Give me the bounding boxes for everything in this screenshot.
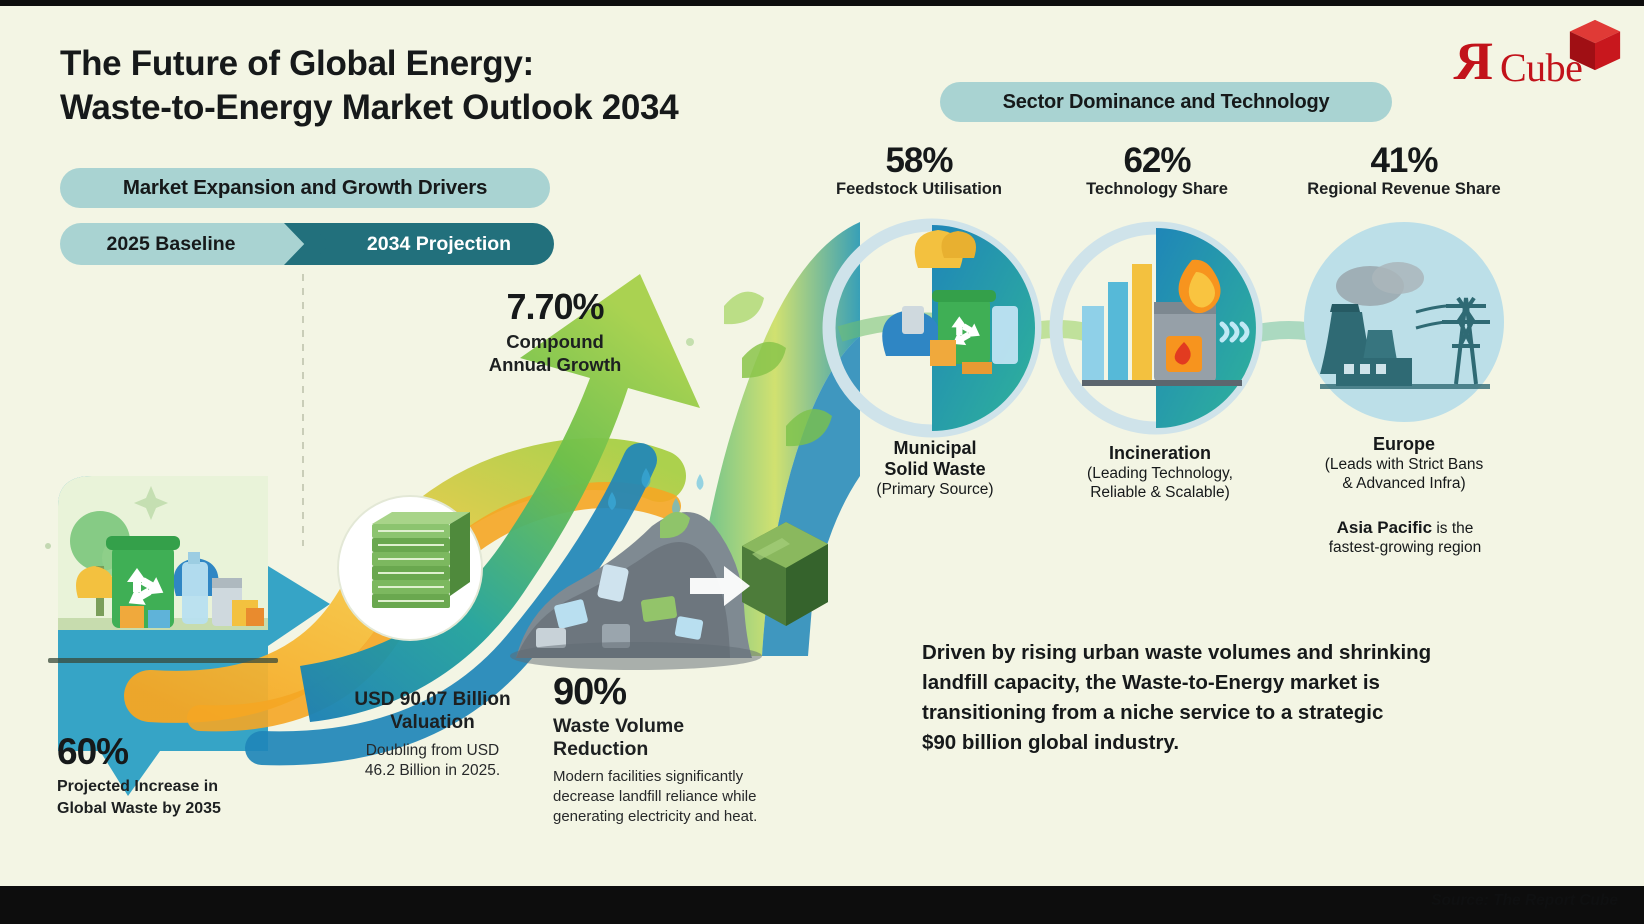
kpi-technology-value: 62% [1045,141,1269,181]
stat-cagr-value: 7.70% [440,286,670,328]
bottom-letterbox-bar [0,886,1644,924]
stat-valuation-body: Doubling from USD 46.2 Billion in 2025. [325,741,540,782]
section-pill-sector-dominance: Sector Dominance and Technology [940,82,1392,122]
kpi-feedstock-utilisation: 58% Feedstock Utilisation [805,141,1033,199]
logo-r-mark: R [1454,34,1493,88]
kpi-technology-label: Technology Share [1045,180,1269,199]
stat-valuation-body-line1: Doubling from USD [325,741,540,761]
title-line-2: Waste-to-Energy Market Outlook 2034 [60,86,880,130]
summary-line4: $90 billion global industry. [922,728,1522,758]
kpi-feedstock-label: Feedstock Utilisation [805,180,1033,199]
caption-europe: Europe (Leads with Strict Bans & Advance… [1295,434,1513,494]
caption-incineration-sub-line1: (Leading Technology, [1062,465,1258,484]
stat-volume-reduction-body-line3: generating electricity and heat. [553,807,815,827]
infographic-canvas: The Future of Global Energy: Waste-to-En… [0,0,1644,924]
stat-waste-increase-value: 60% [57,731,317,773]
stat-cagr-label: Compound Annual Growth [440,330,670,376]
timeline-projection[interactable]: 2034 Projection [306,223,554,265]
source-credit: Source: The Report Cube [1431,892,1618,910]
caption-incineration-title: Incineration [1062,443,1258,464]
stat-cagr-label-line1: Compound [440,330,670,353]
kpi-feedstock-value: 58% [805,141,1033,181]
asia-pacific-bold: Asia Pacific [1337,518,1432,537]
kpi-regional-revenue-share: 41% Regional Revenue Share [1285,141,1523,199]
infographic-sheet: The Future of Global Energy: Waste-to-En… [0,6,1644,886]
asia-pacific-rest: is the [1432,520,1473,537]
stat-valuation-headline: USD 90.07 Billion Valuation [325,689,540,735]
money-stack-illustration [338,496,482,640]
stat-cagr-label-line2: Annual Growth [440,353,670,376]
caption-incineration: Incineration (Leading Technology, Reliab… [1062,443,1258,503]
asia-pacific-line2: fastest-growing region [1295,538,1515,557]
asia-pacific-line1: Asia Pacific is the [1295,517,1515,538]
kpi-regional-label: Regional Revenue Share [1285,180,1523,199]
stat-valuation-body-line2: 46.2 Billion in 2025. [325,761,540,781]
caption-europe-sub-line2: & Advanced Infra) [1295,475,1513,494]
stat-volume-reduction-line2: Reduction [553,738,815,761]
stat-waste-increase: 60% Projected Increase in Global Waste b… [57,731,317,819]
summary-paragraph: Driven by rising urban waste volumes and… [922,638,1522,759]
kpi-regional-value: 41% [1285,141,1523,181]
summary-line1: Driven by rising urban waste volumes and… [922,638,1522,668]
caption-europe-sub-line1: (Leads with Strict Bans [1295,456,1513,475]
stat-volume-reduction: 90% Waste Volume Reduction Modern facili… [553,671,815,828]
page-title: The Future of Global Energy: Waste-to-En… [60,42,880,131]
stat-waste-increase-label: Projected Increase in Global Waste by 20… [57,776,317,819]
brand-logo[interactable]: R Cube [1454,16,1622,96]
asia-pacific-note: Asia Pacific is the fastest-growing regi… [1295,517,1515,558]
timeline-baseline[interactable]: 2025 Baseline [60,223,306,265]
circle-europe-power-plant [1304,222,1504,422]
stat-waste-increase-line1: Projected Increase in [57,776,317,798]
summary-line3: transitioning from a niche service to a … [922,698,1522,728]
stat-valuation-headline-line1: USD 90.07 Billion [325,689,540,712]
caption-msw-sub-line1: (Primary Source) [840,481,1030,500]
stat-volume-reduction-line1: Waste Volume [553,715,815,738]
stat-valuation: USD 90.07 Billion Valuation Doubling fro… [325,689,540,782]
caption-msw-title-line2: Solid Waste [840,459,1030,480]
stat-waste-increase-line2: Global Waste by 2035 [57,798,317,820]
section-pill-market-expansion: Market Expansion and Growth Drivers [60,168,550,208]
kpi-technology-share: 62% Technology Share [1045,141,1269,199]
stat-volume-reduction-body: Modern facilities significantly decrease… [553,767,815,828]
stat-volume-reduction-body-line2: decrease landfill reliance while [553,787,815,807]
timeline-toggle[interactable]: 2025 Baseline 2034 Projection [60,223,554,265]
stat-valuation-headline-line2: Valuation [325,712,540,735]
summary-line2: landfill capacity, the Waste-to-Energy m… [922,668,1522,698]
caption-incineration-sub-line2: Reliable & Scalable) [1062,484,1258,503]
caption-europe-title: Europe [1295,434,1513,455]
caption-municipal-solid-waste: Municipal Solid Waste (Primary Source) [840,438,1030,499]
cube-3d-icon [1566,16,1624,74]
title-line-1: The Future of Global Energy: [60,42,880,86]
top-letterbox-bar [0,0,1644,6]
stat-volume-reduction-value: 90% [553,671,815,714]
stat-cagr: 7.70% Compound Annual Growth [440,286,670,376]
stat-volume-reduction-label: Waste Volume Reduction [553,715,815,762]
circle-incineration [1056,228,1256,428]
stat-volume-reduction-body-line1: Modern facilities significantly [553,767,815,787]
caption-msw-title-line1: Municipal [840,438,1030,459]
